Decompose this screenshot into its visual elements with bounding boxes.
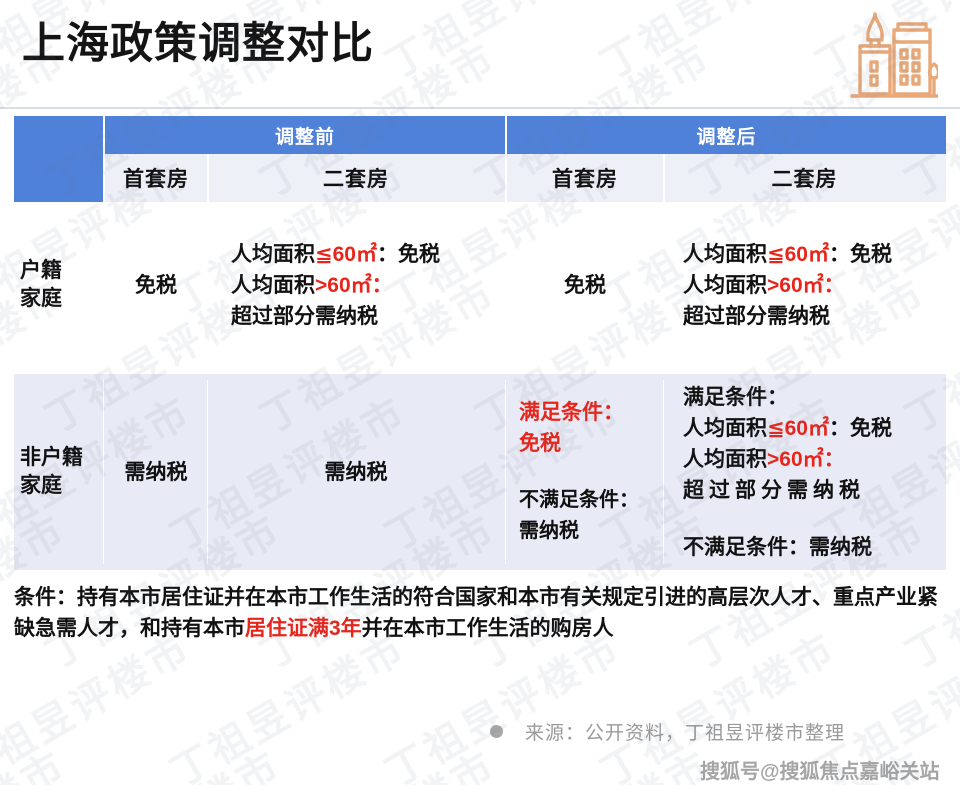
group-header-after-label: 调整后 <box>696 122 756 149</box>
seg-text: ：免税 <box>377 243 440 266</box>
column-header-1: 二套房 <box>207 154 505 202</box>
group-header-before-label: 调整前 <box>275 122 335 149</box>
cell-line-3: 超过部分需纳税 <box>683 301 830 332</box>
watermark-text: 丁祖昱评楼市 <box>0 734 76 785</box>
policy-comparison-table: 调整前 调整后 首套房 二套房 首套房 二套房 户籍 家庭 免税 人均面积≦60… <box>14 116 946 570</box>
group-header-before: 调整前 <box>105 116 505 154</box>
column-header-3: 二套房 <box>663 154 946 202</box>
dot-icon <box>490 725 503 738</box>
row-divider-0 <box>103 380 104 564</box>
row-label-line-1: 非户籍 <box>20 444 103 472</box>
seg-text: 人均面积 <box>231 274 315 297</box>
column-header-0: 首套房 <box>105 154 207 202</box>
footnote-condition: 条件：持有本市居住证并在本市工作生活的符合国家和本市有关规定引进的高层次人才、重… <box>14 582 946 644</box>
cell-line-1: 人均面积≦60㎡：免税 <box>683 239 892 270</box>
cell-line-2: 人均面积>60㎡： <box>231 270 393 301</box>
seg-text-red: ≦60㎡ <box>315 243 377 266</box>
page-title: 上海政策调整对比 <box>22 16 374 72</box>
cell-after-second-home: 人均面积≦60㎡：免税 人均面积>60㎡： 超过部分需纳税 <box>663 210 946 360</box>
seg-text: 人均面积 <box>683 448 767 471</box>
cell-after-first-home: 免税 <box>507 210 663 360</box>
row-label-line-1: 户籍 <box>20 257 103 285</box>
cell-line-2: 免税 <box>519 428 561 459</box>
source-line: 来源：公开资料，丁祖昱评楼市整理 <box>490 718 845 745</box>
seg-text: 人均面积 <box>683 274 767 297</box>
seg-text: 人均面积 <box>683 417 767 440</box>
cell-after-first-home: 满足条件： 免税 不满足条件： 需纳税 <box>507 374 663 570</box>
cell-line-2: 人均面积≦60㎡：免税 <box>683 413 892 444</box>
footnote-part-2: 并在本市工作生活的购房人 <box>362 617 614 640</box>
seg-text: ：免税 <box>829 243 892 266</box>
row-label-non-household: 非户籍 家庭 <box>14 374 103 570</box>
table-column-header-row: 首套房 二套房 首套房 二套房 <box>14 154 946 202</box>
row-label-household: 户籍 家庭 <box>14 210 103 360</box>
cell-value: 免税 <box>135 270 177 301</box>
row-divider-2 <box>505 380 506 564</box>
column-header-2: 首套房 <box>507 154 663 202</box>
cell-before-first-home: 需纳税 <box>105 374 207 570</box>
row-label-line-2: 家庭 <box>20 285 103 313</box>
cell-line-1: 满足条件： <box>683 382 788 413</box>
cell-value: 需纳税 <box>325 457 388 488</box>
group-header-after: 调整后 <box>507 116 946 154</box>
seg-text-red: >60㎡： <box>767 274 845 297</box>
seg-text: 人均面积 <box>231 243 315 266</box>
cell-line-4: 需纳税 <box>519 516 579 547</box>
city-buildings-icon <box>830 12 938 104</box>
cell-value: 需纳税 <box>125 457 188 488</box>
cell-line-5: 不满足条件：需纳税 <box>683 532 872 563</box>
page-header: 上海政策调整对比 <box>0 0 960 110</box>
table-row: 户籍 家庭 免税 人均面积≦60㎡：免税 人均面积>60㎡： 超过部分需纳税 免… <box>14 210 946 360</box>
cell-line-3: 人均面积>60㎡： <box>683 444 845 475</box>
seg-text-red: ≦60㎡ <box>767 417 829 440</box>
table-row: 非户籍 家庭 需纳税 需纳税 满足条件： 免税 不满足条件： 需纳税 满足条件：… <box>14 374 946 570</box>
watermark-text: 丁祖昱评楼市 <box>248 734 506 785</box>
seg-text-red: ≦60㎡ <box>767 243 829 266</box>
cell-line-1: 人均面积≦60㎡：免税 <box>231 239 440 270</box>
seg-text-red: >60㎡： <box>315 274 393 297</box>
cell-before-first-home: 免税 <box>105 210 207 360</box>
table-group-header-row: 调整前 调整后 <box>14 116 946 154</box>
cell-value: 免税 <box>564 270 606 301</box>
sohu-watermark: 搜狐号@搜狐焦点嘉峪关站 <box>700 755 940 784</box>
cell-before-second-home: 需纳税 <box>207 374 505 570</box>
header-divider <box>0 107 960 109</box>
seg-text: 人均面积 <box>683 243 767 266</box>
source-text: 来源：公开资料，丁祖昱评楼市整理 <box>525 718 845 745</box>
cell-after-second-home: 满足条件： 人均面积≦60㎡：免税 人均面积>60㎡： 超过部分需纳税 不满足条… <box>663 374 946 570</box>
cell-line-3: 超过部分需纳税 <box>231 301 378 332</box>
seg-text: ：免税 <box>829 417 892 440</box>
cell-line-2: 人均面积>60㎡： <box>683 270 845 301</box>
cell-line-1: 满足条件： <box>519 397 624 428</box>
row-label-line-2: 家庭 <box>20 472 103 500</box>
cell-before-second-home: 人均面积≦60㎡：免税 人均面积>60㎡： 超过部分需纳税 <box>207 210 505 360</box>
cell-line-3: 不满足条件： <box>519 485 639 516</box>
seg-text-red: >60㎡： <box>767 448 845 471</box>
footnote-highlight: 居住证满3年 <box>245 617 362 640</box>
watermark-text: 丁祖昱评楼市 <box>33 734 291 785</box>
cell-line-4: 超过部分需纳税 <box>683 475 865 506</box>
